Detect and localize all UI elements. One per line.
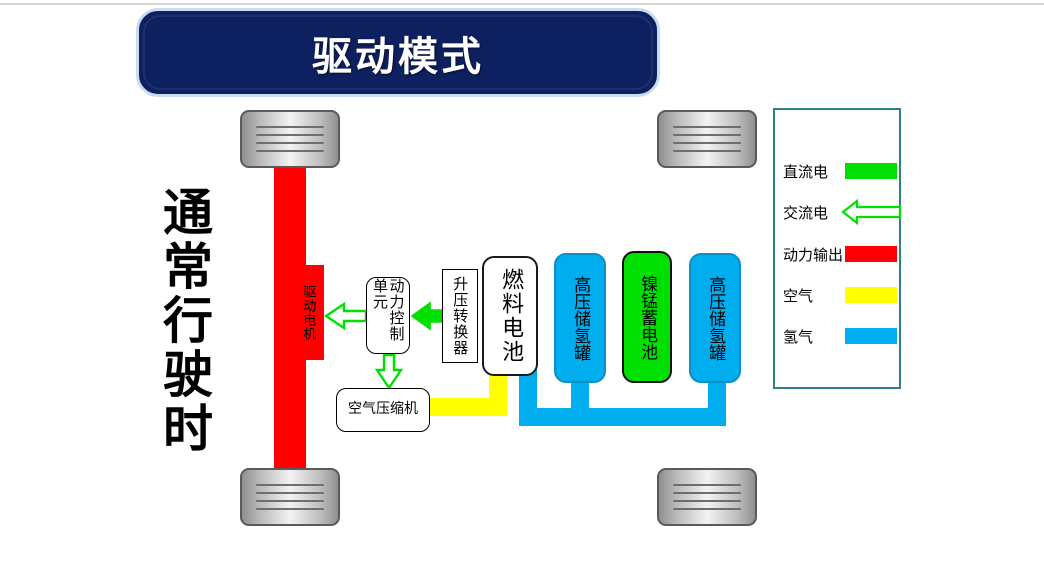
legend-box: 直流电 交流电 动力输出 空气 氢气 [773, 108, 901, 389]
hydrogen-tank-left-label: 高压储氢罐 [571, 276, 589, 361]
legend-item-ac: 交流电 [783, 201, 895, 223]
fuel-cell-label: 燃料电池 [498, 268, 522, 364]
wheel-front-left [240, 110, 340, 168]
legend-item-dc: 直流电 [783, 160, 895, 182]
power-control-unit-label: 动力控制单元 [372, 278, 405, 353]
hydrogen-tank-right-label: 高压储氢罐 [706, 276, 724, 361]
wheel-tread-line [256, 492, 324, 494]
wheel-tread-line [673, 134, 741, 136]
wheel-tread-line [256, 134, 324, 136]
legend-swatch-ac-arrow-left-icon [841, 198, 903, 226]
wheel-tread-line [256, 500, 324, 502]
hydrogen-pipe-manifold [519, 408, 726, 426]
fuel-cell[interactable]: 燃料电池 [482, 256, 538, 376]
hydrogen-tank-left[interactable]: 高压储氢罐 [554, 253, 606, 383]
wheel-tread-line [256, 484, 324, 486]
legend-item-power-output: 动力输出 [783, 243, 895, 265]
wheel-rear-right [657, 468, 757, 526]
legend-item-hydrogen: 氢气 [783, 325, 895, 347]
wheel-tread-line [256, 150, 324, 152]
wheel-rear-left [240, 468, 340, 526]
legend-swatch-hydrogen-bar [845, 328, 897, 344]
wheel-tread-line [673, 142, 741, 144]
wheel-tread-line [256, 142, 324, 144]
wheel-tread-line [673, 500, 741, 502]
hydrogen-tank-right[interactable]: 高压储氢罐 [689, 253, 741, 383]
legend-label-air: 空气 [783, 285, 813, 306]
wheel-tread-line [256, 126, 324, 128]
boost-converter[interactable]: 升压转换器 [442, 269, 478, 363]
wheel-tread-line [673, 484, 741, 486]
wheel-tread-line [673, 126, 741, 128]
slide-title-inner: 驱动模式 [143, 15, 653, 90]
boost-converter-label: 升压转换器 [452, 276, 469, 356]
power-control-unit[interactable]: 动力控制单元 [366, 277, 410, 354]
air-compressor[interactable]: 空气压缩机 [336, 388, 430, 432]
legend-label-hydrogen: 氢气 [783, 326, 813, 347]
wheel-tread-line [673, 492, 741, 494]
legend-label-power-output: 动力输出 [783, 244, 843, 265]
nickel-manganese-battery[interactable]: 镍锰蓄电池 [622, 251, 672, 383]
wheel-tread-line [673, 150, 741, 152]
drive-motor-label: 驱动电机 [300, 285, 315, 341]
legend-label-dc: 直流电 [783, 161, 828, 182]
slide-top-rule [0, 3, 1044, 5]
page-title: 驱动模式 [312, 24, 484, 82]
legend-swatch-dc-bar [845, 163, 897, 179]
arrow-dc-pcu-to-compressor [377, 355, 401, 388]
wheel-tread-line [256, 508, 324, 510]
slide-title-box: 驱动模式 [136, 8, 660, 97]
wheel-front-right [657, 110, 757, 168]
drive-motor: 驱动电机 [290, 265, 324, 360]
legend-item-air: 空气 [783, 284, 895, 306]
legend-label-ac: 交流电 [783, 202, 828, 223]
air-compressor-label: 空气压缩机 [348, 402, 418, 417]
legend-swatch-air-bar [845, 287, 897, 303]
arrow-ac-pcu-to-motor [326, 304, 366, 328]
battery-label: 镍锰蓄电池 [638, 275, 656, 360]
legend-swatch-power-output-bar [845, 246, 897, 262]
slide-canvas: 驱动模式 通常行驶时 驱动电机 [0, 0, 1044, 586]
wheel-tread-line [673, 508, 741, 510]
arrow-dc-converter-to-pcu [412, 303, 442, 329]
scenario-caption: 通常行驶时 [148, 186, 210, 456]
